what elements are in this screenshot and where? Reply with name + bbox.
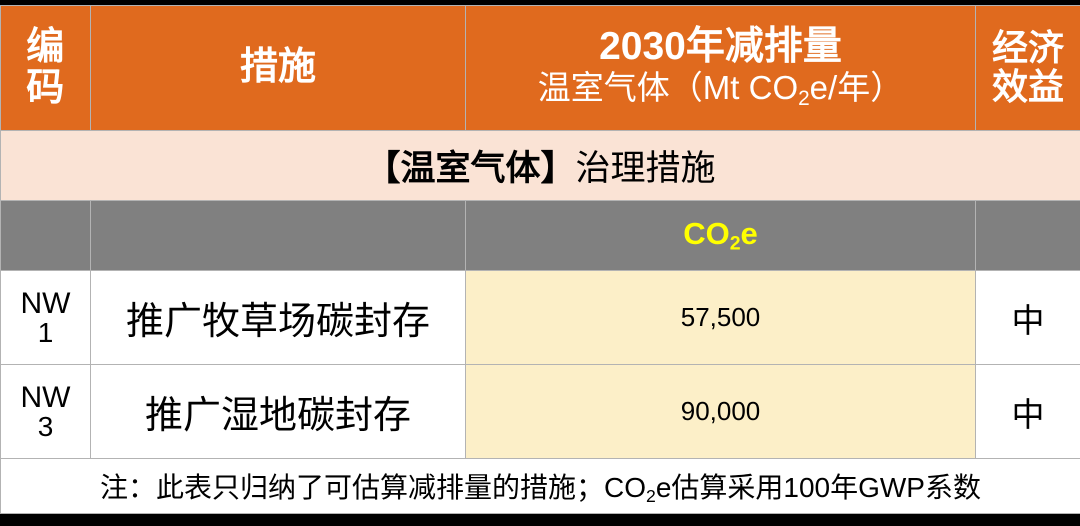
row-economic-cell: 中 [976,365,1080,459]
table-note-row: 注：此表只归纳了可估算减排量的措施；CO2e估算采用100年GWP系数 [1,459,1080,514]
row-economic-cell: 中 [976,271,1080,365]
table-header-row: 编 码 措施 2030年减排量 温室气体（Mt CO2e/年） 经济 效益 [1,6,1080,131]
row-code-line1: NW [1,289,90,319]
header-economic-line1: 经济 [976,29,1080,68]
section-rest-text: 治理措施 [576,149,716,188]
co2e-label: CO2e [683,216,758,251]
table-note-cell: 注：此表只归纳了可估算减排量的措施；CO2e估算采用100年GWP系数 [1,459,1080,514]
row-measure-cell: 推广牧草场碳封存 [91,271,466,365]
row-code-line2: 1 [1,319,90,347]
gas-subheader-row: CO2e [1,201,1080,271]
header-value-title: 2030年减排量 [466,26,975,68]
header-economic-line2: 效益 [976,68,1080,107]
header-unit-subscript: 2 [798,87,810,110]
note-subscript: 2 [646,485,656,505]
row-value-cell: 90,000 [466,365,976,459]
header-unit-suffix: e/年） [810,69,904,106]
row-value-cell: 57,500 [466,271,976,365]
table-row: NW 3 推广湿地碳封存 90,000 中 [1,365,1080,459]
gas-subheader-cell-measure [91,201,466,271]
section-band-cell: 【温室气体】治理措施 [1,131,1080,201]
row-code-line1: NW [1,383,90,413]
emissions-measures-table: 编 码 措施 2030年减排量 温室气体（Mt CO2e/年） 经济 效益 [0,5,1080,514]
header-code-line1: 编 [1,27,90,68]
header-cell-code: 编 码 [1,6,91,131]
co2e-suffix: e [741,216,758,251]
gas-subheader-cell-code [1,201,91,271]
row-code-line2: 3 [1,413,90,441]
co2e-subscript: 2 [730,232,741,254]
table-row: NW 1 推广牧草场碳封存 57,500 中 [1,271,1080,365]
header-value-unit: 温室气体（Mt CO2e/年） [466,70,975,110]
section-band-row: 【温室气体】治理措施 [1,131,1080,201]
header-cell-value: 2030年减排量 温室气体（Mt CO2e/年） [466,6,976,131]
gas-subheader-cell-value: CO2e [466,201,976,271]
header-code-line2: 码 [1,68,90,109]
co2e-prefix: CO [683,216,730,251]
header-cell-economic: 经济 效益 [976,6,1080,131]
header-unit-prefix: 温室气体（Mt CO [538,69,798,106]
section-bracket-text: 【温室气体】 [365,149,575,188]
header-cell-measure: 措施 [91,6,466,131]
note-part2: e估算采用100年GWP系数 [656,472,981,503]
row-measure-cell: 推广湿地碳封存 [91,365,466,459]
note-part1: 注：此表只归纳了可估算减排量的措施；CO [100,472,646,503]
emissions-table-container: 编 码 措施 2030年减排量 温室气体（Mt CO2e/年） 经济 效益 [0,5,1080,513]
row-code-cell: NW 3 [1,365,91,459]
row-code-cell: NW 1 [1,271,91,365]
gas-subheader-cell-economic [976,201,1080,271]
page-root: 编 码 措施 2030年减排量 温室气体（Mt CO2e/年） 经济 效益 [0,0,1080,526]
